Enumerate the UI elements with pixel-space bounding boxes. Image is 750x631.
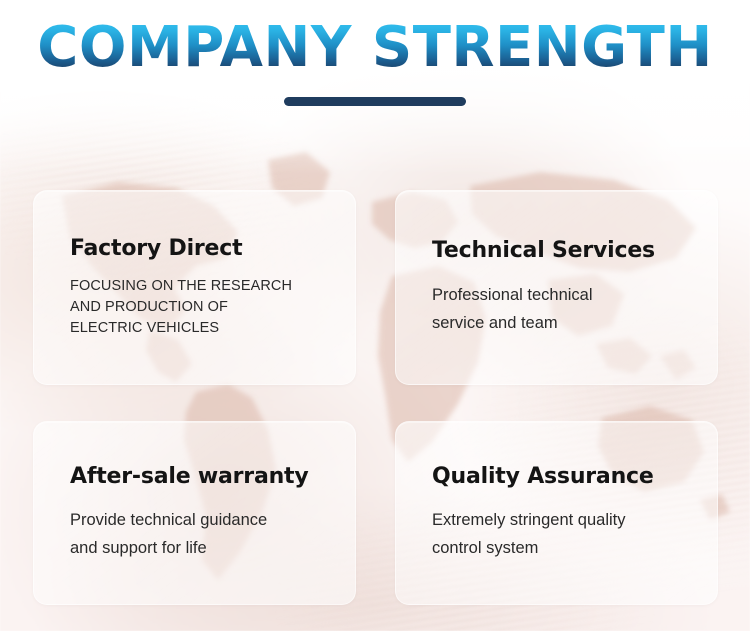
strength-card-after-sale-warranty: After-sale warranty Provide technical gu…	[33, 421, 356, 605]
card-title: Quality Assurance	[432, 464, 717, 490]
card-body: FOCUSING ON THE RESEARCH AND PRODUCTION …	[70, 276, 302, 339]
card-body: Extremely stringent quality control syst…	[432, 506, 682, 562]
strength-card-factory-direct: Factory Direct FOCUSING ON THE RESEARCH …	[33, 190, 356, 385]
page-title: COMPANY STRENGTH	[0, 18, 750, 77]
company-strength-banner: COMPANY STRENGTH Factory Direct FOCUSING…	[0, 0, 750, 631]
title-underline-bar	[284, 97, 466, 106]
card-title: Factory Direct	[70, 236, 355, 262]
card-body: Professional technical service and team	[432, 281, 682, 337]
strength-card-technical-services: Technical Services Professional technica…	[395, 190, 718, 385]
card-title: Technical Services	[432, 238, 717, 264]
strength-cards-grid: Factory Direct FOCUSING ON THE RESEARCH …	[33, 190, 718, 605]
card-body: Provide technical guidance and support f…	[70, 506, 320, 562]
banner-header: COMPANY STRENGTH	[0, 0, 750, 106]
strength-card-quality-assurance: Quality Assurance Extremely stringent qu…	[395, 421, 718, 605]
card-title: After-sale warranty	[70, 464, 355, 490]
